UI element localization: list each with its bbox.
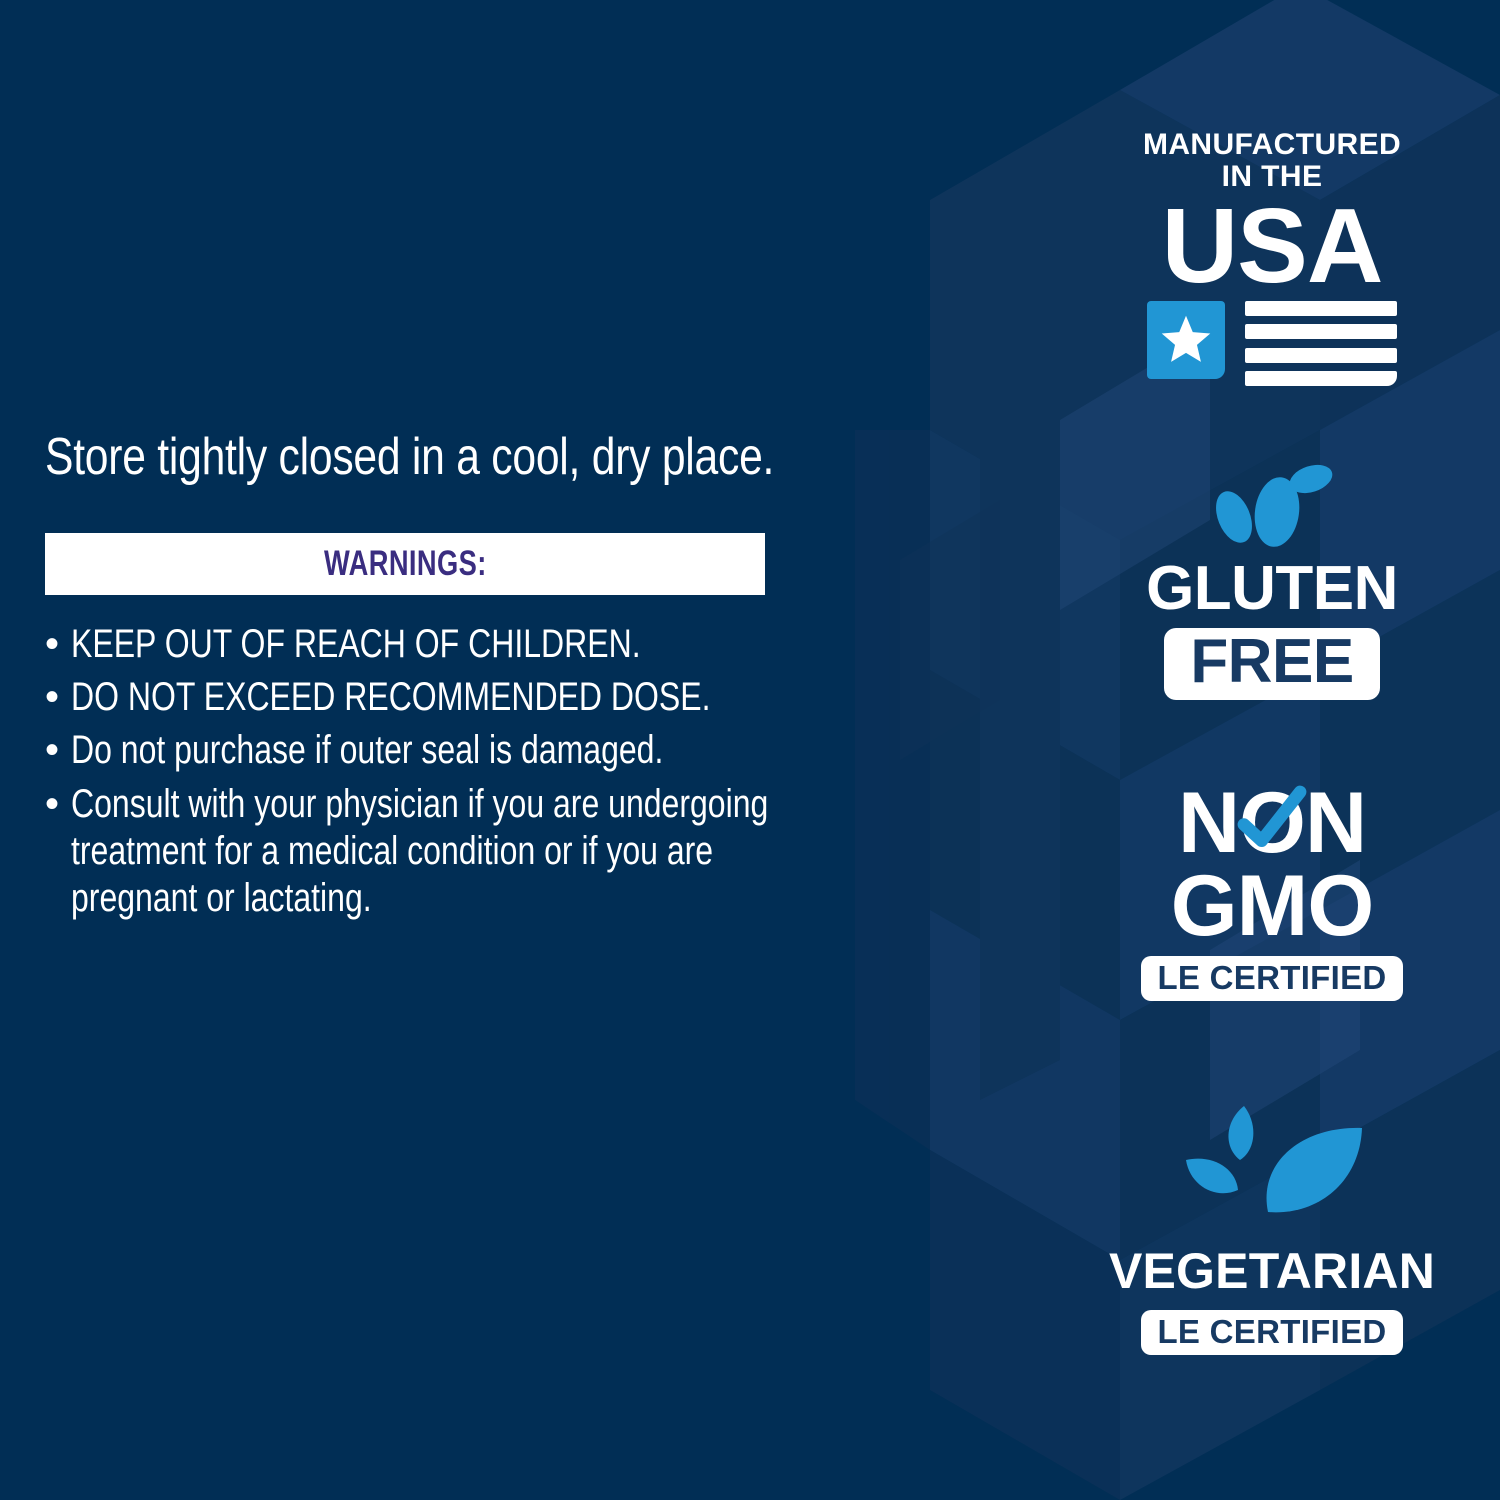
vegetarian-word-text: VEGETARIAN bbox=[1109, 1246, 1435, 1296]
warnings-header-bar: WARNINGS: bbox=[45, 533, 765, 595]
list-item: • KEEP OUT OF REACH OF CHILDREN. bbox=[45, 621, 985, 668]
flag-stripe bbox=[1245, 371, 1397, 386]
non-row: N O N bbox=[1178, 782, 1366, 865]
warning-text: KEEP OUT OF REACH OF CHILDREN. bbox=[71, 621, 802, 668]
non-letter-o: O bbox=[1239, 782, 1305, 865]
bullet-icon: • bbox=[45, 727, 71, 774]
bullet-icon: • bbox=[45, 674, 71, 721]
warning-text: DO NOT EXCEED RECOMMENDED DOSE. bbox=[71, 674, 802, 721]
star-icon bbox=[1158, 312, 1214, 368]
warnings-title: WARNINGS: bbox=[324, 544, 487, 584]
badge-vegetarian: VEGETARIAN LE CERTIFIED bbox=[1122, 1098, 1422, 1355]
usa-word-text: USA bbox=[1162, 198, 1383, 296]
vegetarian-certified-pill: LE CERTIFIED bbox=[1141, 1310, 1402, 1355]
gmo-row: GMO bbox=[1171, 865, 1373, 948]
non-letter-n2: N bbox=[1305, 782, 1366, 865]
certification-badge-column: MANUFACTURED IN THE USA bbox=[1122, 0, 1422, 1500]
non-letter-o-glyph: O bbox=[1239, 775, 1305, 871]
usa-flag-icon bbox=[1147, 301, 1397, 389]
free-pill-text: FREE bbox=[1164, 628, 1379, 700]
warning-text: Do not purchase if outer seal is damaged… bbox=[71, 727, 802, 774]
product-label-panel: Store tightly closed in a cool, dry plac… bbox=[0, 0, 1500, 1500]
gluten-word-text: GLUTEN bbox=[1146, 558, 1398, 620]
list-item: • Consult with your physician if you are… bbox=[45, 781, 985, 923]
list-item: • DO NOT EXCEED RECOMMENDED DOSE. bbox=[45, 674, 985, 721]
label-text-column: Store tightly closed in a cool, dry plac… bbox=[45, 430, 985, 928]
badge-manufactured-in-usa: MANUFACTURED IN THE USA bbox=[1122, 130, 1422, 389]
warning-text: Consult with your physician if you are u… bbox=[71, 781, 802, 923]
flag-stripe bbox=[1245, 301, 1397, 316]
non-letter-n1: N bbox=[1178, 782, 1239, 865]
bullet-icon: • bbox=[45, 621, 71, 668]
flag-canton bbox=[1147, 301, 1225, 379]
badge-non-gmo: N O N GMO LE CERTIFIED bbox=[1122, 782, 1422, 1001]
leaf-sprout-icon bbox=[1172, 1098, 1372, 1228]
list-item: • Do not purchase if outer seal is damag… bbox=[45, 727, 985, 774]
warnings-list: • KEEP OUT OF REACH OF CHILDREN. • DO NO… bbox=[45, 621, 985, 922]
bullet-icon: • bbox=[45, 781, 71, 828]
non-gmo-certified-pill: LE CERTIFIED bbox=[1141, 956, 1402, 1001]
flag-stripe bbox=[1245, 324, 1397, 339]
usa-line1-text: MANUFACTURED bbox=[1143, 130, 1401, 160]
storage-instruction-text: Store tightly closed in a cool, dry plac… bbox=[45, 430, 816, 485]
badge-gluten-free: GLUTEN FREE bbox=[1122, 462, 1422, 700]
grain-leaves-icon bbox=[1197, 462, 1347, 554]
flag-stripe bbox=[1245, 348, 1397, 363]
flag-stripes bbox=[1245, 301, 1397, 386]
